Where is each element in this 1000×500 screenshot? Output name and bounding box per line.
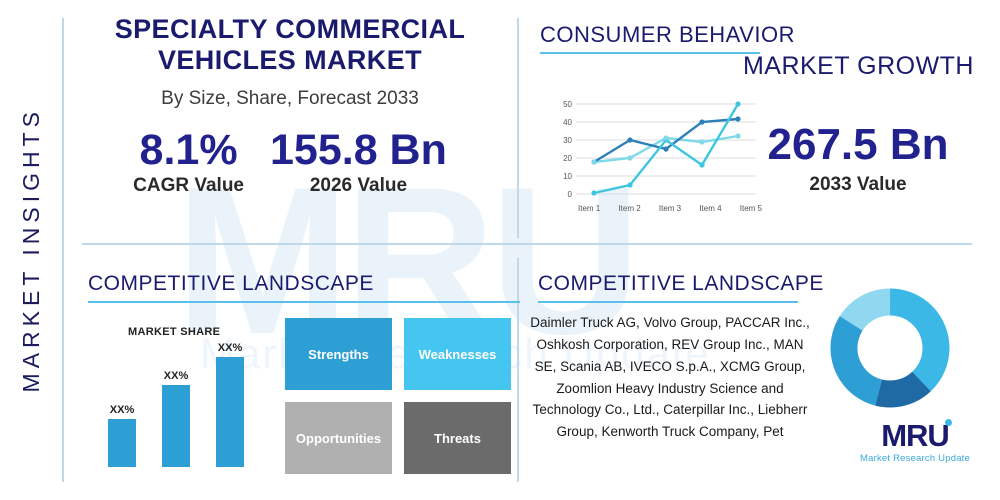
company-list: Daimler Truck AG, Volvo Group, PACCAR In… bbox=[528, 312, 812, 443]
stat-2026-value: 155.8 Bn bbox=[270, 128, 447, 173]
competitive-landscape-right-header: COMPETITIVE LANDSCAPE bbox=[538, 272, 824, 303]
line-chart-x-label-0: Item 1 bbox=[578, 204, 600, 213]
market-growth-value: 267.5 Bn bbox=[738, 120, 978, 170]
competitive-landscape-left-underline bbox=[88, 301, 520, 303]
competitive-landscape-left-header: COMPETITIVE LANDSCAPE bbox=[88, 272, 520, 303]
bar-item-1: XX% bbox=[162, 370, 190, 470]
brand-logo: MRU Market Research Update bbox=[860, 418, 970, 464]
line-chart-x-label-2: Item 3 bbox=[659, 204, 681, 213]
swot-grid: Strengths Weaknesses Opportunities Threa… bbox=[285, 318, 511, 474]
swot-opportunities[interactable]: Opportunities bbox=[285, 402, 392, 474]
bar-label-0: XX% bbox=[110, 404, 134, 416]
consumer-behavior-underline bbox=[540, 52, 760, 54]
bar-rect-0 bbox=[108, 419, 136, 467]
logo-caption: Market Research Update bbox=[860, 453, 970, 464]
market-share-donut-chart bbox=[824, 282, 956, 419]
infographic-page: MRU Market Research Update MARKET INSIGH… bbox=[0, 0, 1000, 500]
line-chart-svg: 50 40 30 20 10 0 bbox=[548, 96, 758, 221]
line-chart-x-label-4: Item 5 bbox=[740, 204, 762, 213]
logo-mark-text: MRU bbox=[881, 418, 949, 453]
donut-chart-svg bbox=[824, 282, 956, 414]
divider-vertical-top-mid bbox=[517, 18, 519, 238]
stat-cagr: 8.1% CAGR Value bbox=[133, 128, 244, 197]
bar-rect-2 bbox=[216, 357, 244, 467]
stat-cagr-value: 8.1% bbox=[133, 128, 244, 173]
page-subtitle: By Size, Share, Forecast 2033 bbox=[70, 88, 510, 110]
logo-dot-icon bbox=[945, 419, 952, 426]
bar-label-2: XX% bbox=[218, 342, 242, 354]
bar-item-2: XX% bbox=[216, 342, 244, 470]
stat-2026-label: 2026 Value bbox=[270, 175, 447, 197]
stat-cagr-label: CAGR Value bbox=[133, 175, 244, 197]
market-growth-value-label: 2033 Value bbox=[738, 174, 978, 196]
key-stats: 8.1% CAGR Value 155.8 Bn 2026 Value bbox=[70, 128, 510, 197]
bar-label-1: XX% bbox=[164, 370, 188, 382]
svg-text:30: 30 bbox=[563, 136, 572, 145]
svg-text:10: 10 bbox=[563, 172, 572, 181]
competitive-landscape-left-title: COMPETITIVE LANDSCAPE bbox=[88, 272, 520, 296]
bar-item-0: XX% bbox=[108, 404, 136, 470]
competitive-landscape-right-underline bbox=[538, 301, 798, 303]
consumer-behavior-line-chart: 50 40 30 20 10 0 bbox=[548, 96, 758, 221]
market-growth-stat: 267.5 Bn 2033 Value bbox=[738, 120, 978, 196]
swot-threats[interactable]: Threats bbox=[404, 402, 511, 474]
page-title: SPECIALTY COMMERCIAL VEHICLES MARKET bbox=[70, 14, 510, 76]
line-chart-x-label-3: Item 4 bbox=[699, 204, 721, 213]
divider-horizontal bbox=[82, 243, 972, 245]
line-chart-x-label-1: Item 2 bbox=[618, 204, 640, 213]
logo-mark: MRU bbox=[881, 418, 949, 454]
market-growth-label: MARKET GROWTH bbox=[743, 52, 974, 81]
divider-vertical-left bbox=[62, 18, 64, 482]
market-share-bar-chart: XX% XX% XX% bbox=[108, 340, 268, 470]
swot-strengths[interactable]: Strengths bbox=[285, 318, 392, 390]
line-chart-x-labels: Item 1 Item 2 Item 3 Item 4 Item 5 bbox=[578, 204, 762, 213]
title-block: SPECIALTY COMMERCIAL VEHICLES MARKET By … bbox=[70, 14, 510, 197]
competitive-landscape-right-title: COMPETITIVE LANDSCAPE bbox=[538, 272, 824, 296]
market-insights-band: MARKET INSIGHTS bbox=[0, 0, 62, 500]
market-insights-label: MARKET INSIGHTS bbox=[18, 107, 45, 392]
svg-text:20: 20 bbox=[563, 154, 572, 163]
stat-2026: 155.8 Bn 2026 Value bbox=[270, 128, 447, 197]
consumer-behavior-title: CONSUMER BEHAVIOR bbox=[540, 22, 795, 48]
swot-weaknesses[interactable]: Weaknesses bbox=[404, 318, 511, 390]
svg-text:40: 40 bbox=[563, 118, 572, 127]
svg-text:0: 0 bbox=[568, 190, 573, 199]
svg-text:50: 50 bbox=[563, 100, 572, 109]
market-share-label: MARKET SHARE bbox=[128, 326, 220, 338]
bar-rect-1 bbox=[162, 385, 190, 467]
consumer-behavior-header: CONSUMER BEHAVIOR bbox=[540, 22, 795, 54]
